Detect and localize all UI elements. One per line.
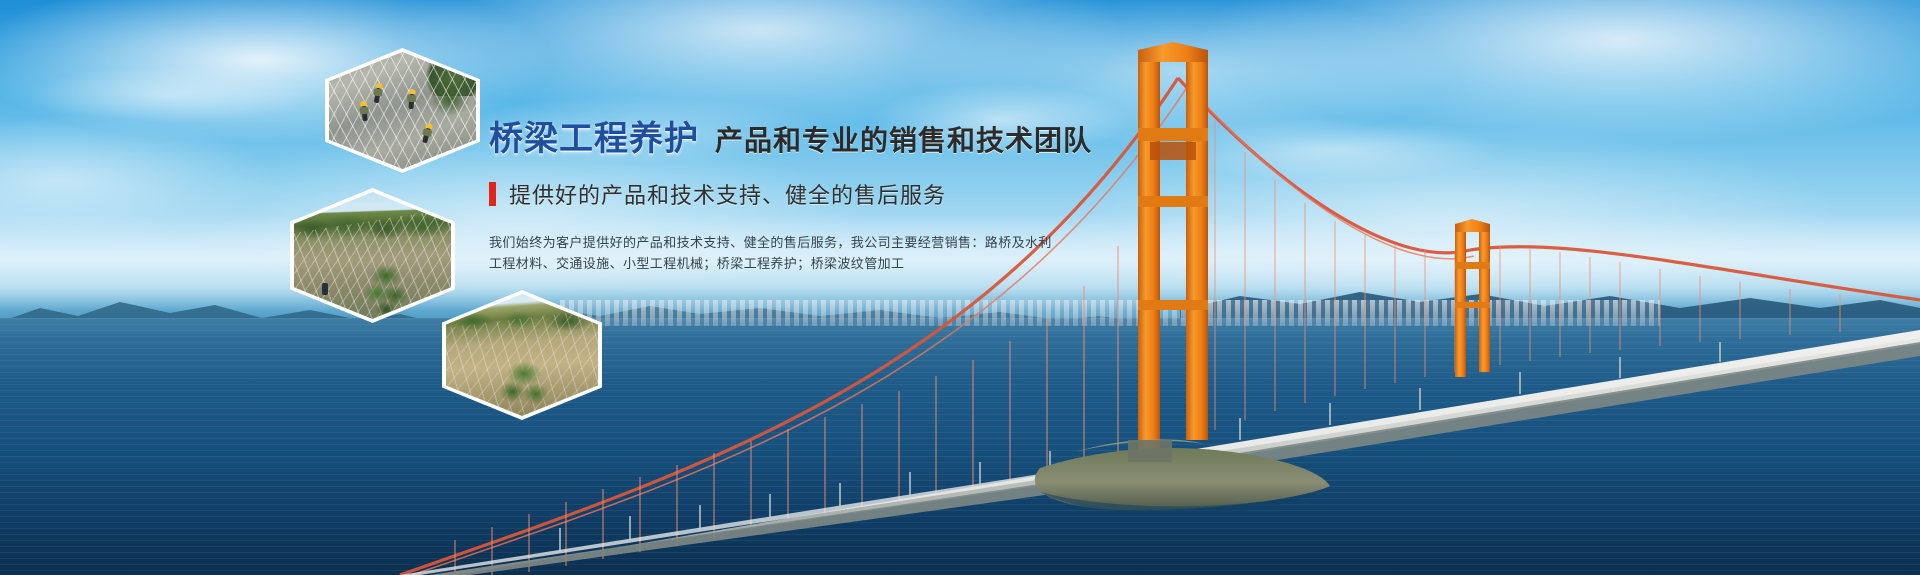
hex-photo-rock-slope-inner [329,52,476,169]
headline-secondary: 产品和专业的销售和技术团队 [715,127,1092,155]
headline-primary: 桥梁工程养护 [489,122,699,156]
worker-figure [322,283,328,295]
hero-banner: 桥梁工程养护 产品和专业的销售和技术团队 提供好的产品和技术支持、健全的售后服务… [0,0,1920,575]
dry-slope-scene [446,294,598,416]
banner-copy: 桥梁工程养护 产品和专业的销售和技术团队 提供好的产品和技术支持、健全的售后服务… [489,122,1129,274]
hex-photo-rock-slope[interactable] [325,48,480,173]
worker-figure [361,106,368,121]
banner-subtitle-row: 提供好的产品和技术支持、健全的售后服务 [489,178,1129,210]
banner-description: 我们始终为客户提供好的产品和技术支持、健全的售后服务，我公司主要经营销售：路桥及… [489,232,1129,274]
hex-photo-vegetated-slope-inner [294,192,451,319]
vegetated-slope-scene [294,192,451,319]
description-line-1: 我们始终为客户提供好的产品和技术支持、健全的售后服务，我公司主要经营销售：路桥及… [489,232,1129,253]
hex-photo-vegetated-slope[interactable] [290,188,455,323]
hex-photo-dry-slope[interactable] [442,290,602,420]
rock-slope-scene [329,52,476,169]
description-line-2: 工程材料、交通设施、小型工程机械；桥梁工程养护；桥梁波纹管加工 [489,253,1129,274]
sea [0,318,1920,575]
hex-photo-dry-slope-inner [446,294,598,416]
worker-figure [408,94,414,109]
tree-icon [363,263,409,319]
banner-headline: 桥梁工程养护 产品和专业的销售和技术团队 [489,122,1129,156]
accent-bar-icon [489,182,496,206]
banner-subtitle: 提供好的产品和技术支持、健全的售后服务 [509,178,946,210]
wire-mesh-overlay [329,52,476,169]
tree-icon [498,357,550,413]
